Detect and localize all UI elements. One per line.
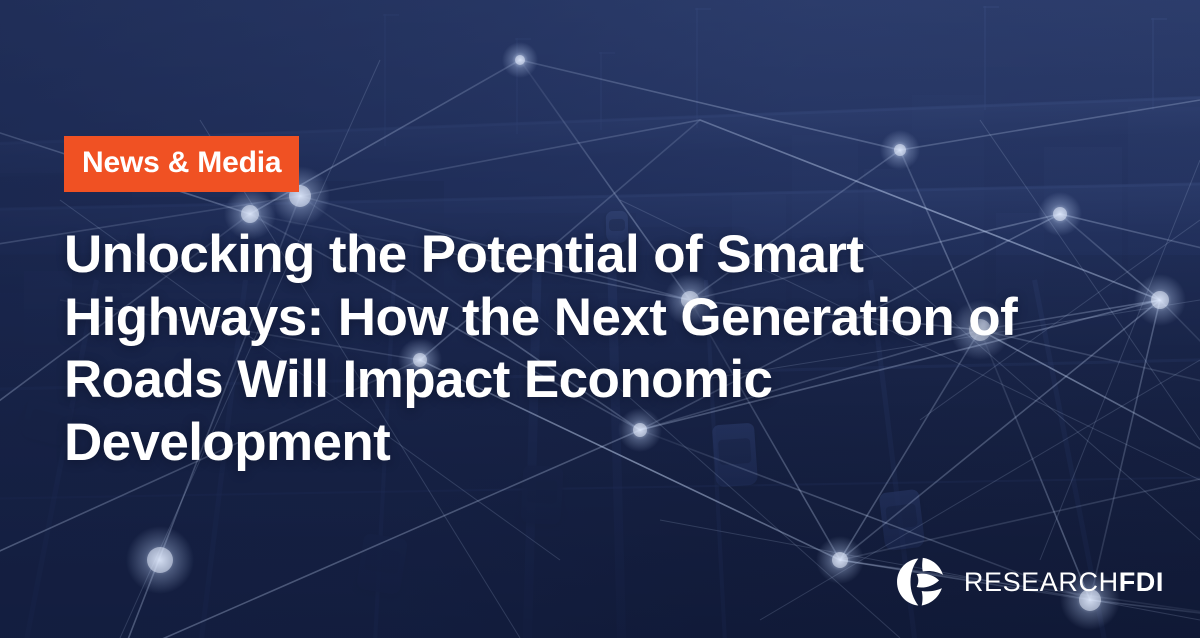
- news-media-hero-banner: News & Media Unlocking the Potential of …: [0, 0, 1200, 638]
- logo-wordmark-research: RESEARCH: [964, 567, 1119, 597]
- category-badge-news-media[interactable]: News & Media: [64, 136, 299, 192]
- logo-wordmark: RESEARCHFDI: [964, 569, 1164, 596]
- hero-content: News & Media Unlocking the Potential of …: [64, 136, 1024, 474]
- logo-wordmark-fdi: FDI: [1119, 567, 1164, 597]
- researchfdi-globe-icon: [892, 554, 948, 610]
- researchfdi-logo[interactable]: RESEARCHFDI: [892, 554, 1164, 610]
- page-title: Unlocking the Potential of Smart Highway…: [64, 224, 1024, 474]
